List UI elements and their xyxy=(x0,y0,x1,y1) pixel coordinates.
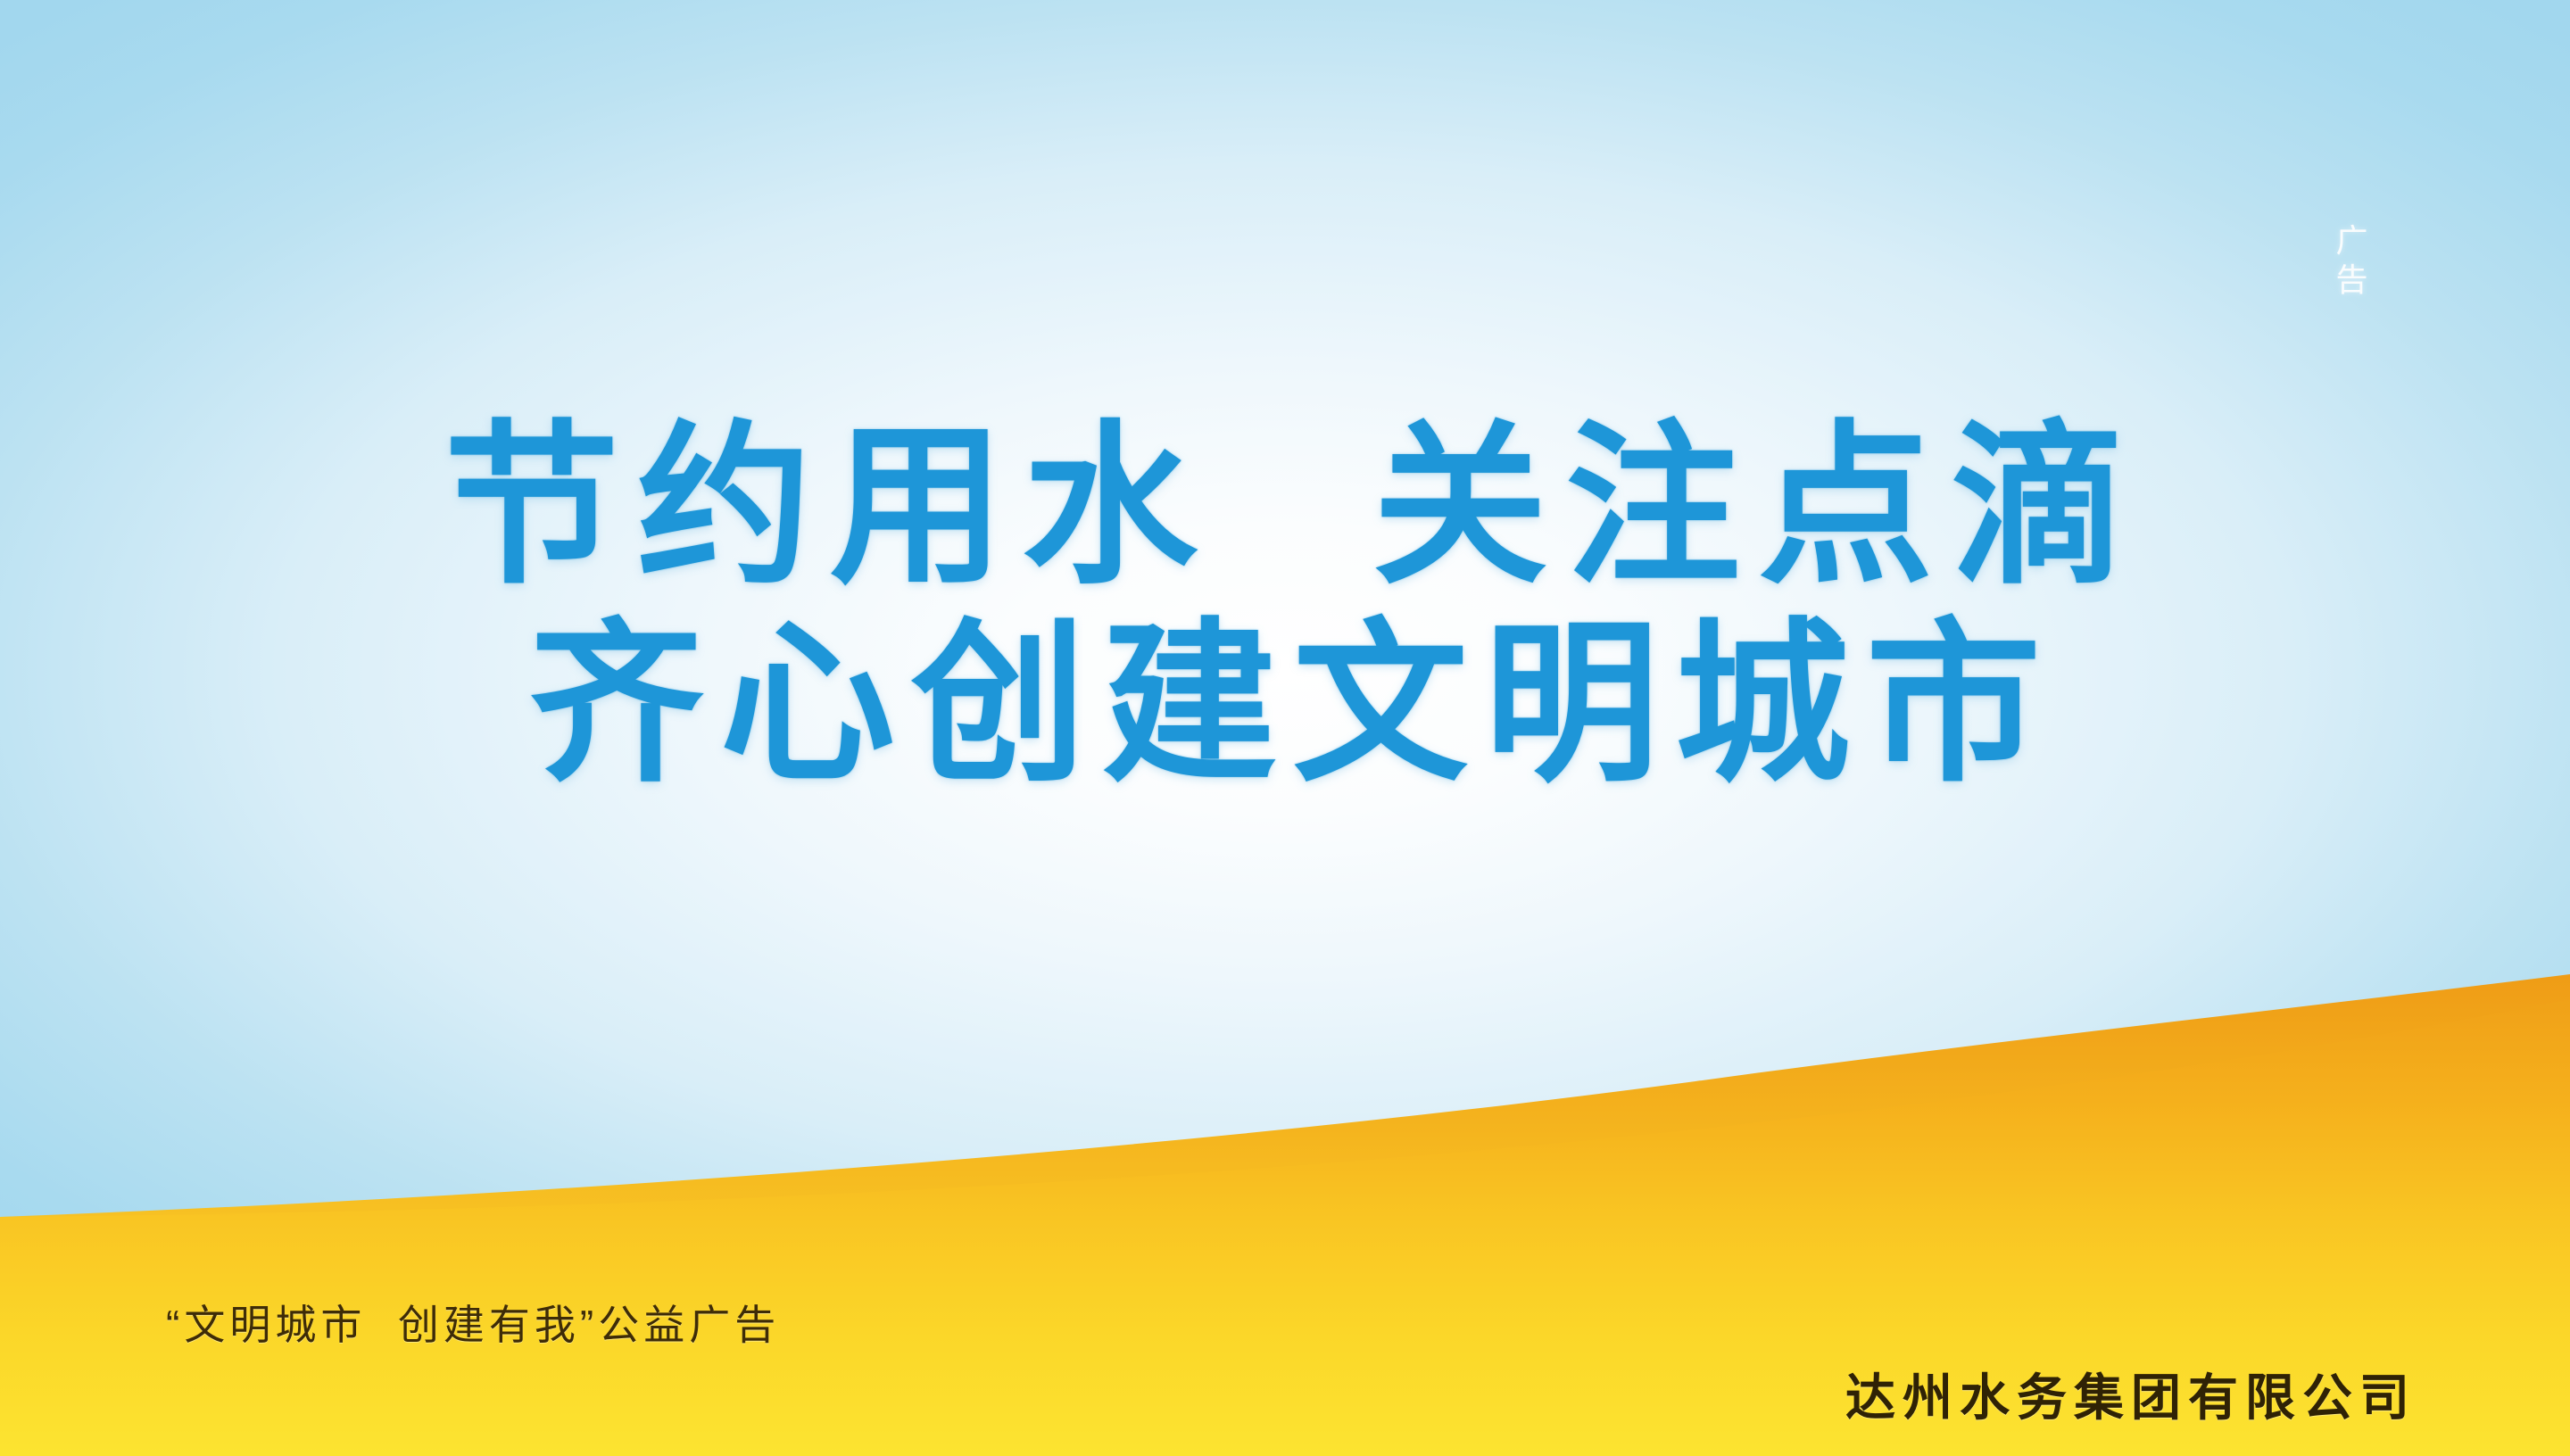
sponsor-credits: 达州水务集团有限公司 达州市广播电视台 xyxy=(1845,1245,2417,1456)
advertisement-watermark: 广 告 xyxy=(2327,221,2377,300)
campaign-slogan: “文明城市 创建有我”公益广告 xyxy=(166,1304,780,1345)
headline-block: 节约用水 关注点滴 齐心创建文明城市 xyxy=(0,419,2570,792)
watermark-char-guang: 广 xyxy=(2327,221,2377,261)
headline-line-2: 齐心创建文明城市 xyxy=(0,617,2570,792)
headline-line-1: 节约用水 关注点滴 xyxy=(0,419,2570,594)
sponsor-line-1: 达州水务集团有限公司 xyxy=(1845,1368,2417,1428)
watermark-char-gao: 告 xyxy=(2327,261,2377,300)
advertisement-banner: 广 告 节约用水 关注点滴 齐心创建文明城市 xyxy=(0,0,2570,1456)
